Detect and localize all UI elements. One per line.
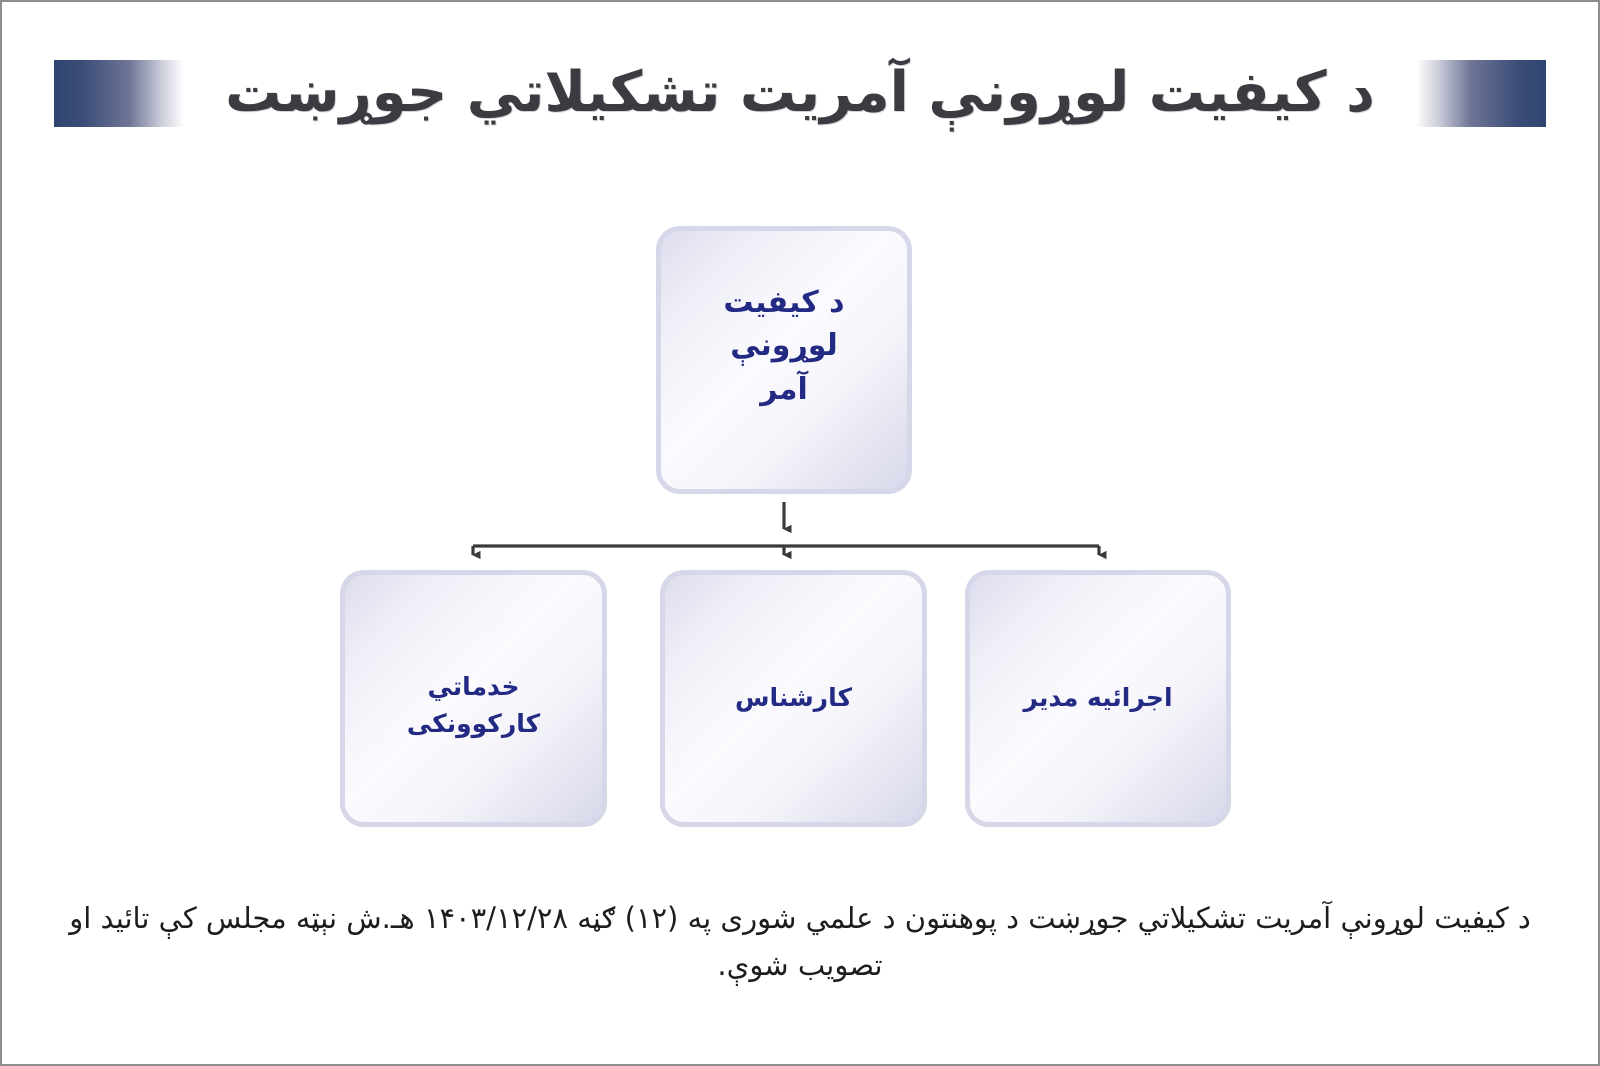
org-node-service-worker-label: خدماتي کارکوونکی	[397, 669, 550, 742]
footer-approval-note: د کیفیت لوړونې آمریت تشکیلاتي جوړښت د پو…	[66, 895, 1534, 989]
page-title: د کیفیت لوړونې آمریت تشکیلاتي جوړښت	[2, 40, 1598, 146]
org-node-head[interactable]: د کیفیت لوړونې آمر	[656, 226, 912, 494]
org-node-service-worker[interactable]: خدماتي کارکوونکی	[340, 570, 607, 827]
org-node-head-label: د کیفیت لوړونې آمر	[661, 281, 907, 412]
slide-canvas: د کیفیت لوړونې آمریت تشکیلاتي جوړښت د کی…	[0, 0, 1600, 1066]
org-node-expert-label: کارشناس	[725, 680, 862, 716]
org-node-executive-manager[interactable]: اجرائیه مدیر	[965, 570, 1231, 827]
title-band: د کیفیت لوړونې آمریت تشکیلاتي جوړښت	[2, 40, 1598, 150]
org-node-executive-manager-label: اجرائیه مدیر	[1013, 680, 1182, 716]
org-node-expert[interactable]: کارشناس	[660, 570, 927, 827]
